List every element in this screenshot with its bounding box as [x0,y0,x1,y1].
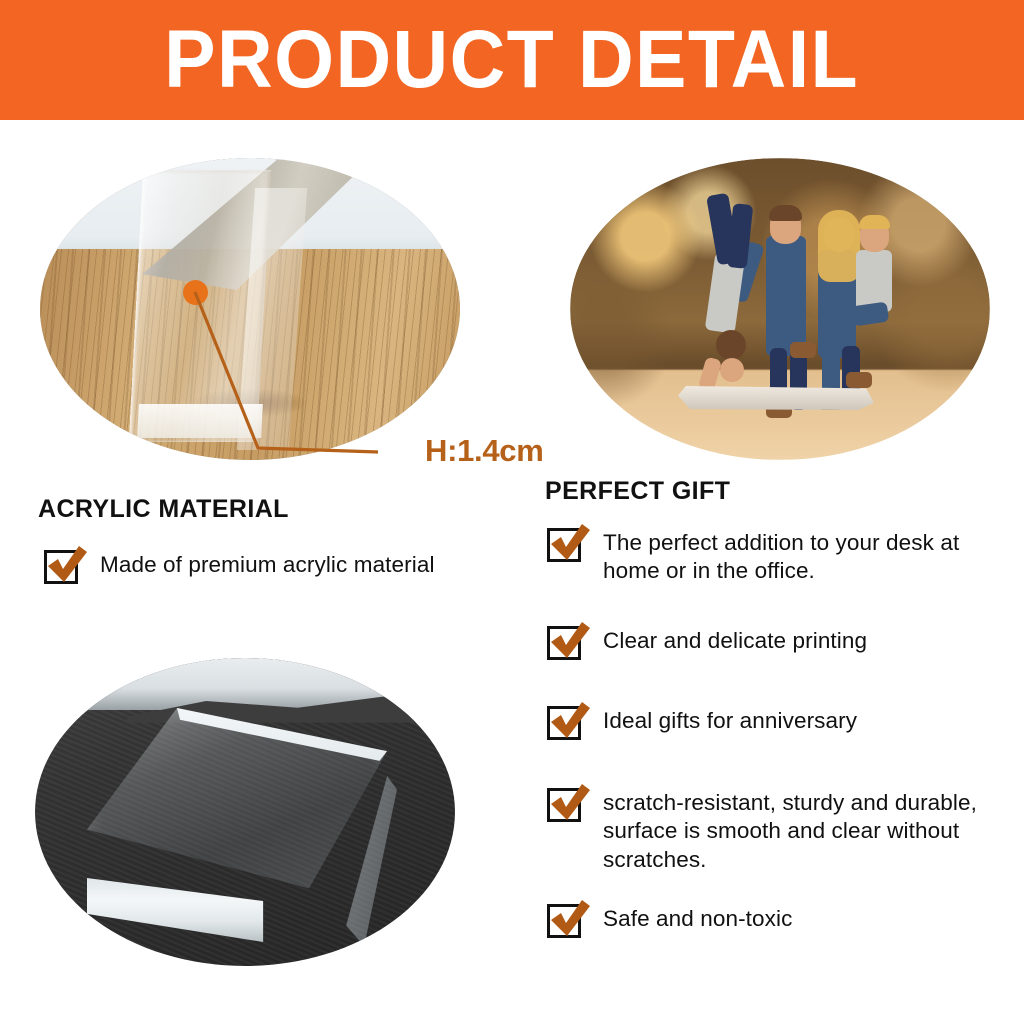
figure-mom-hair [818,210,860,282]
checkmark-icon [547,702,587,742]
list-item-text: scratch-resistant, sturdy and durable, s… [603,784,997,874]
photo-acrylic-block [35,658,455,966]
section-heading-perfect-gift: PERFECT GIFT [545,477,730,506]
dimension-marker-dot [183,280,208,305]
photo-family-figurine-image [570,158,990,460]
figure-dad-torso [766,236,806,356]
page-title: PRODUCT DETAIL [165,19,860,101]
list-item-text: Made of premium acrylic material [100,546,435,579]
list-item: Safe and non-toxic [547,900,987,940]
checkmark-icon [547,900,587,940]
figure-dad-hair [769,205,802,221]
figure-kid-handstand-face [720,358,744,382]
figurine-base-plinth [678,386,874,410]
checkmark-icon [44,546,84,586]
list-item-text: Ideal gifts for anniversary [603,702,857,735]
list-item: scratch-resistant, sturdy and durable, s… [547,784,997,874]
list-item: Clear and delicate printing [547,622,987,662]
checkmark-icon [547,524,587,564]
acrylic-base-highlight [137,404,263,438]
figure-kid-piggyback-shoe [846,372,872,388]
list-item-text: Clear and delicate printing [603,622,867,655]
figure-kid-piggyback-hair [859,215,890,229]
list-item-text: Safe and non-toxic [603,900,792,933]
figure-shoe-c [790,342,816,358]
section-heading-acrylic-material: ACRYLIC MATERIAL [38,495,289,524]
list-item: Ideal gifts for anniversary [547,702,987,742]
checkmark-icon [547,784,587,824]
list-item: Made of premium acrylic material [44,546,514,586]
photo-acrylic-edge [40,158,460,460]
list-item-text: The perfect addition to your desk at hom… [603,524,987,586]
photo-family-figurine [570,158,990,460]
page-header-banner: PRODUCT DETAIL [0,0,1024,120]
checkmark-icon [547,622,587,662]
figure-kid-handstand-head [716,330,746,360]
dimension-label: H:1.4cm [425,433,544,469]
list-item: The perfect addition to your desk at hom… [547,524,987,586]
photo-acrylic-edge-image [40,158,460,460]
photo-acrylic-block-image [35,658,455,966]
